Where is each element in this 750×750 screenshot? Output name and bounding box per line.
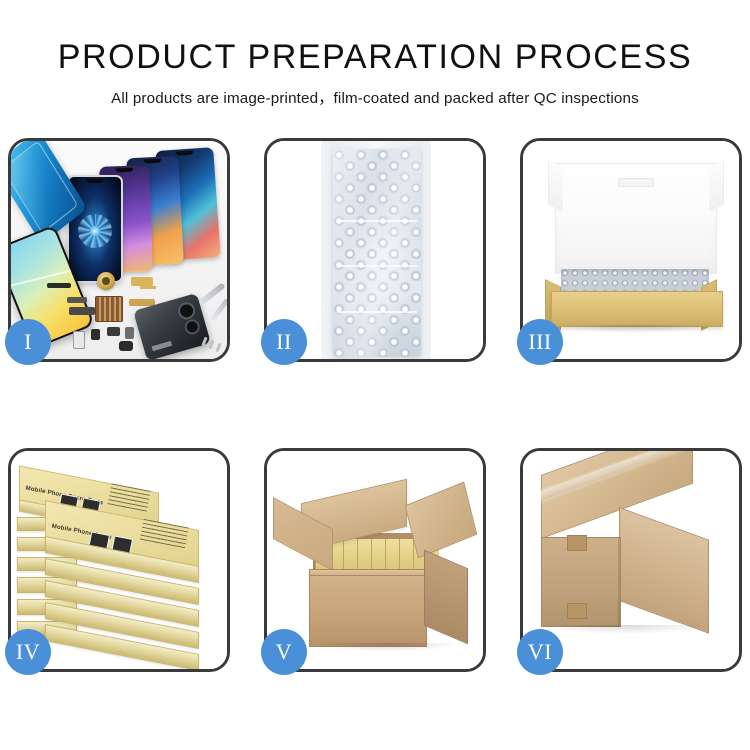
process-step-panel-5[interactable]: V <box>264 448 486 672</box>
carton-handle-slot-icon <box>567 535 587 551</box>
carton-shadow <box>545 625 705 634</box>
carton-corner-seam <box>618 537 620 625</box>
small-component-icon <box>107 327 120 336</box>
process-step-panel-3[interactable]: III <box>520 138 742 362</box>
step-badge-1: I <box>5 319 51 365</box>
step-badge-4: IV <box>5 629 51 675</box>
camera-lens-icon <box>183 318 202 337</box>
wrap-gloss <box>333 149 421 357</box>
box-shadow <box>553 325 719 333</box>
process-step-panel-2[interactable]: II <box>264 138 486 362</box>
carton-handle-slot-icon <box>567 603 587 619</box>
speaker-coil-icon <box>97 272 115 290</box>
step-badge-6: VI <box>517 629 563 675</box>
small-component-icon <box>91 329 100 340</box>
earpiece-part-icon <box>47 283 71 288</box>
process-step-panel-1[interactable]: I <box>8 138 230 362</box>
flex-cable-icon <box>131 277 153 286</box>
screws-icon <box>203 337 225 353</box>
page-header: PRODUCT PREPARATION PROCESS All products… <box>0 0 750 120</box>
connector-part-icon <box>69 307 95 315</box>
battery-part-icon <box>73 331 85 349</box>
page-title: PRODUCT PREPARATION PROCESS <box>0 38 750 77</box>
step-badge-3: III <box>517 319 563 365</box>
phone-notch-icon <box>175 151 193 156</box>
circuit-chip-icon <box>95 296 123 322</box>
connector-part-icon <box>67 297 87 303</box>
box-lid-tab <box>618 178 654 187</box>
step-badge-2: II <box>261 319 307 365</box>
camera-lens-icon <box>176 300 197 321</box>
phone-notch-icon <box>115 168 133 173</box>
carton-shadow <box>311 643 461 652</box>
bubble-wrap-package-icon <box>333 149 421 357</box>
kraft-box-front <box>551 291 723 327</box>
housing-label <box>152 341 173 351</box>
process-step-panel-6[interactable]: VI <box>520 448 742 672</box>
page-subtitle: All products are image-printed，film-coat… <box>0 86 750 108</box>
camera-module-icon <box>119 341 133 351</box>
process-step-grid: I II III <box>8 138 742 698</box>
small-component-icon <box>125 327 134 339</box>
step-badge-5: V <box>261 629 307 675</box>
carton-front-face <box>309 575 427 647</box>
phone-notch-icon <box>86 179 104 183</box>
process-step-panel-4[interactable]: Mobile Phone Spare Parts Mobile Phone Sp… <box>8 448 230 672</box>
inner-box-lid-icon <box>555 163 717 274</box>
phone-notch-icon <box>143 159 161 164</box>
